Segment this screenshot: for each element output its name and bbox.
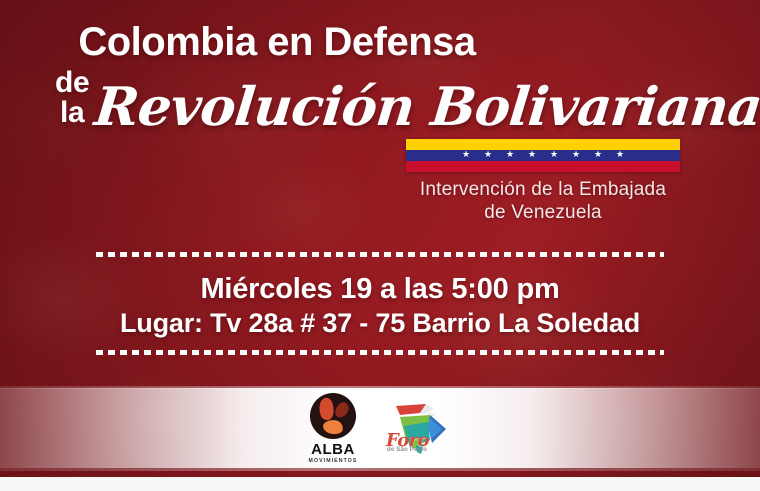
flag-stripe-red	[406, 161, 680, 172]
alba-logo-name: ALBA	[311, 442, 355, 457]
flag-stripe-yellow	[406, 139, 680, 150]
venezuela-flag-icon	[406, 139, 680, 172]
poster-subtitle-line-1: Intervención de la Embajada	[360, 178, 726, 201]
flag-stars	[406, 150, 680, 161]
poster-title-line-1: Colombia en Defensa	[0, 22, 760, 62]
poster-title-line-2: de la Revolución Bolivariana	[0, 68, 760, 134]
sponsor-logos: ALBA MOVIMIENTOS Foro de São Paulo	[0, 392, 760, 466]
event-location: Lugar: Tv 28a # 37 - 75 Barrio La Soleda…	[0, 307, 760, 340]
event-info-block: Miércoles 19 a las 5:00 pm Lugar: Tv 28a…	[0, 272, 760, 340]
event-poster: Colombia en Defensa de la Revolución Bol…	[0, 0, 760, 491]
poster-title-prefix: de la	[55, 68, 89, 134]
bottom-margin	[0, 477, 760, 491]
alba-shape-c	[322, 419, 344, 436]
dashed-divider-bottom	[96, 350, 664, 355]
alba-logo-subtitle: MOVIMIENTOS	[309, 459, 358, 464]
alba-mark-icon	[310, 393, 356, 439]
event-datetime: Miércoles 19 a las 5:00 pm	[0, 272, 760, 307]
poster-subtitle: Intervención de la Embajada de Venezuela	[360, 178, 726, 224]
poster-subtitle-line-2: de Venezuela	[360, 201, 726, 224]
alba-movimientos-logo: ALBA MOVIMIENTOS	[304, 393, 362, 464]
foro-de-sao-paulo-logo: Foro de São Paulo	[384, 396, 456, 462]
band-edge-bottom	[0, 468, 760, 471]
alba-shape-a	[316, 397, 337, 423]
title-block: Colombia en Defensa de la Revolución Bol…	[0, 22, 760, 134]
poster-title-script: Revolución Bolivariana	[93, 81, 760, 134]
foro-logo-subtitle: de São Paulo	[387, 447, 427, 453]
dashed-divider-top	[96, 252, 664, 257]
flag-stripe-blue	[406, 150, 680, 161]
alba-shape-b	[333, 401, 350, 420]
